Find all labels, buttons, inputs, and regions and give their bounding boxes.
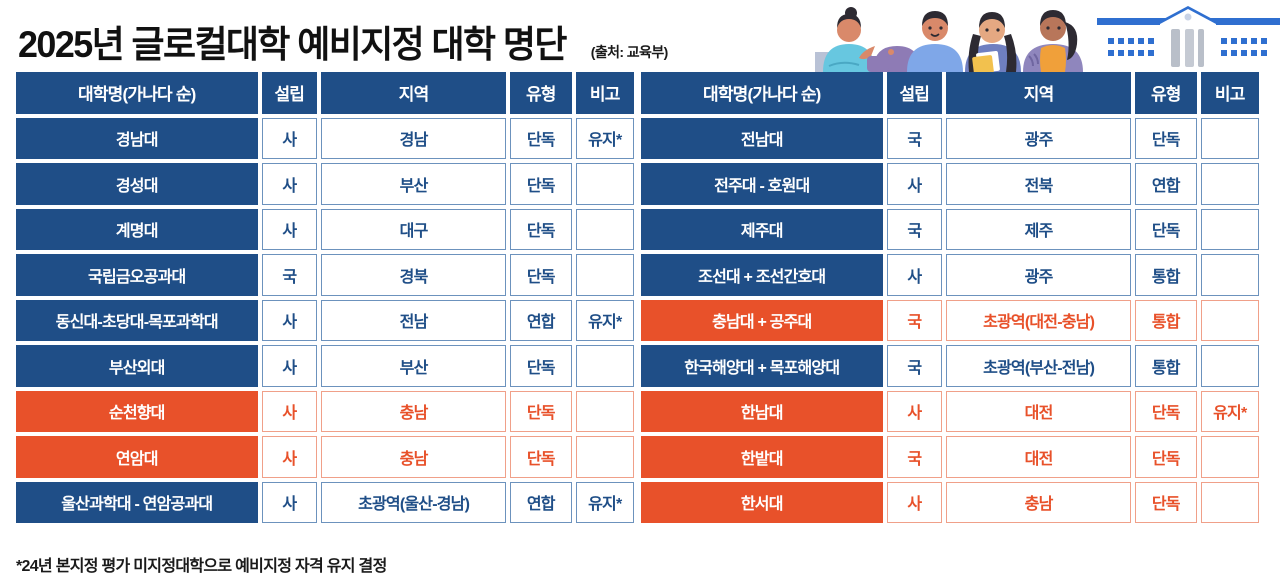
table-row: 경성대 사 부산 단독 [16, 163, 634, 205]
cell-type: 단독 [510, 436, 571, 478]
cell-type: 단독 [510, 118, 571, 160]
column-header-region: 지역 [946, 72, 1131, 114]
page-title: 2025년 글로컬대학 예비지정 대학 명단 [18, 14, 566, 68]
cell-note [1201, 482, 1259, 524]
cell-region: 제주 [946, 209, 1131, 251]
cell-note [1201, 345, 1259, 387]
table-row: 조선대 + 조선간호대 사 광주 통합 [641, 254, 1259, 296]
cell-type: 통합 [1135, 300, 1196, 342]
cell-region: 대전 [946, 436, 1131, 478]
right-table: 대학명(가나다 순) 설립 지역 유형 비고 전남대 국 광주 단독 전주대 -… [641, 72, 1259, 540]
table-row-highlighted: 연암대 사 충남 단독 [16, 436, 634, 478]
cell-name: 경남대 [16, 118, 258, 160]
cell-region: 경북 [321, 254, 506, 296]
cell-found: 국 [887, 345, 943, 387]
cell-name: 울산과학대 - 연암공과대 [16, 482, 258, 524]
cell-name: 경성대 [16, 163, 258, 205]
table-row: 전남대 국 광주 단독 [641, 118, 1259, 160]
cell-note [576, 345, 634, 387]
cell-region: 전북 [946, 163, 1131, 205]
title-block: 2025년 글로컬대학 예비지정 대학 명단 (출처: 교육부) [18, 14, 668, 68]
table-header-row: 대학명(가나다 순) 설립 지역 유형 비고 [16, 72, 634, 114]
cell-region: 전남 [321, 300, 506, 342]
cell-name: 전남대 [641, 118, 883, 160]
column-header-found: 설립 [262, 72, 318, 114]
cell-name: 순천향대 [16, 391, 258, 433]
cell-type: 단독 [510, 345, 571, 387]
column-header-type: 유형 [1135, 72, 1196, 114]
table-row: 울산과학대 - 연암공과대 사 초광역(울산-경남) 연합 유지* [16, 482, 634, 524]
cell-name: 한남대 [641, 391, 883, 433]
cell-found: 국 [262, 254, 318, 296]
cell-type: 단독 [510, 163, 571, 205]
cell-note [1201, 209, 1259, 251]
cell-note [1201, 300, 1259, 342]
table-row-highlighted: 한밭대 국 대전 단독 [641, 436, 1259, 478]
cell-note: 유지* [1201, 391, 1259, 433]
cell-region: 충남 [321, 391, 506, 433]
cell-note [1201, 163, 1259, 205]
cell-name: 국립금오공과대 [16, 254, 258, 296]
cell-type: 통합 [1135, 345, 1196, 387]
cell-note [576, 391, 634, 433]
table-row: 한국해양대 + 목포해양대 국 초광역(부산-전남) 통합 [641, 345, 1259, 387]
cell-found: 사 [887, 391, 943, 433]
cell-type: 연합 [510, 482, 571, 524]
cell-name: 제주대 [641, 209, 883, 251]
cell-region: 대구 [321, 209, 506, 251]
table-row: 국립금오공과대 국 경북 단독 [16, 254, 634, 296]
cell-found: 국 [887, 118, 943, 160]
cell-type: 단독 [1135, 118, 1196, 160]
person-5-icon [1023, 10, 1083, 72]
cell-region: 충남 [946, 482, 1131, 524]
person-3-icon [907, 11, 963, 72]
cell-type: 단독 [510, 209, 571, 251]
column-header-note: 비고 [576, 72, 634, 114]
cell-note: 유지* [576, 118, 634, 160]
cell-type: 단독 [1135, 209, 1196, 251]
table-header-row: 대학명(가나다 순) 설립 지역 유형 비고 [641, 72, 1259, 114]
table-row: 부산외대 사 부산 단독 [16, 345, 634, 387]
cell-found: 사 [262, 209, 318, 251]
cell-found: 국 [887, 300, 943, 342]
cell-note [1201, 254, 1259, 296]
cell-name: 계명대 [16, 209, 258, 251]
cell-found: 국 [887, 209, 943, 251]
table-row-highlighted: 충남대 + 공주대 국 초광역(대전-충남) 통합 [641, 300, 1259, 342]
table-row-highlighted: 순천향대 사 충남 단독 [16, 391, 634, 433]
cell-found: 사 [887, 254, 943, 296]
table-row: 전주대 - 호원대 사 전북 연합 [641, 163, 1259, 205]
cell-name: 조선대 + 조선간호대 [641, 254, 883, 296]
column-header-name: 대학명(가나다 순) [16, 72, 258, 114]
column-header-type: 유형 [510, 72, 571, 114]
cell-note [1201, 436, 1259, 478]
cell-region: 초광역(부산-전남) [946, 345, 1131, 387]
source-label: (출처: 교육부) [591, 42, 668, 62]
cell-type: 단독 [510, 391, 571, 433]
cell-region: 초광역(울산-경남) [321, 482, 506, 524]
column-header-found: 설립 [887, 72, 943, 114]
cell-type: 단독 [510, 254, 571, 296]
cell-name: 한서대 [641, 482, 883, 524]
person-1-icon [815, 7, 875, 72]
cell-type: 단독 [1135, 436, 1196, 478]
tables-container: 대학명(가나다 순) 설립 지역 유형 비고 경남대 사 경남 단독 유지* 경… [16, 72, 1266, 540]
cell-note [576, 163, 634, 205]
cell-note [576, 254, 634, 296]
cell-region: 대전 [946, 391, 1131, 433]
left-table: 대학명(가나다 순) 설립 지역 유형 비고 경남대 사 경남 단독 유지* 경… [16, 72, 634, 540]
cell-note [1201, 118, 1259, 160]
table-row-highlighted: 한남대 사 대전 단독 유지* [641, 391, 1259, 433]
cell-name: 한밭대 [641, 436, 883, 478]
cell-name: 충남대 + 공주대 [641, 300, 883, 342]
cell-found: 국 [887, 436, 943, 478]
university-building-icon [1097, 6, 1280, 72]
table-row: 동신대-초당대-목포과학대 사 전남 연합 유지* [16, 300, 634, 342]
cell-found: 사 [262, 436, 318, 478]
table-row: 경남대 사 경남 단독 유지* [16, 118, 634, 160]
cell-found: 사 [887, 482, 943, 524]
cell-name: 연암대 [16, 436, 258, 478]
cell-region: 부산 [321, 163, 506, 205]
cell-found: 사 [262, 482, 318, 524]
cell-region: 광주 [946, 118, 1131, 160]
column-header-region: 지역 [321, 72, 506, 114]
cell-found: 사 [262, 163, 318, 205]
column-header-name: 대학명(가나다 순) [641, 72, 883, 114]
cell-found: 사 [262, 345, 318, 387]
cell-found: 사 [887, 163, 943, 205]
infographic-page: 2025년 글로컬대학 예비지정 대학 명단 (출처: 교육부) [0, 0, 1280, 587]
header-illustration [815, 0, 1280, 72]
cell-name: 동신대-초당대-목포과학대 [16, 300, 258, 342]
page-header: 2025년 글로컬대학 예비지정 대학 명단 (출처: 교육부) [0, 0, 1280, 70]
cell-name: 전주대 - 호원대 [641, 163, 883, 205]
cell-found: 사 [262, 300, 318, 342]
cell-type: 연합 [1135, 163, 1196, 205]
cell-region: 광주 [946, 254, 1131, 296]
cell-name: 부산외대 [16, 345, 258, 387]
cell-note: 유지* [576, 482, 634, 524]
table-row-highlighted: 한서대 사 충남 단독 [641, 482, 1259, 524]
cell-note: 유지* [576, 300, 634, 342]
cell-region: 경남 [321, 118, 506, 160]
table-row: 계명대 사 대구 단독 [16, 209, 634, 251]
cell-name: 한국해양대 + 목포해양대 [641, 345, 883, 387]
cell-region: 초광역(대전-충남) [946, 300, 1131, 342]
cell-region: 충남 [321, 436, 506, 478]
column-header-note: 비고 [1201, 72, 1259, 114]
cell-found: 사 [262, 118, 318, 160]
cell-type: 통합 [1135, 254, 1196, 296]
cell-note [576, 209, 634, 251]
cell-type: 단독 [1135, 482, 1196, 524]
cell-type: 단독 [1135, 391, 1196, 433]
table-row: 제주대 국 제주 단독 [641, 209, 1259, 251]
cell-found: 사 [262, 391, 318, 433]
person-4-icon [965, 12, 1021, 72]
footnote: *24년 본지정 평가 미지정대학으로 예비지정 자격 유지 결정 [16, 552, 387, 576]
cell-type: 연합 [510, 300, 571, 342]
cell-region: 부산 [321, 345, 506, 387]
cell-note [576, 436, 634, 478]
